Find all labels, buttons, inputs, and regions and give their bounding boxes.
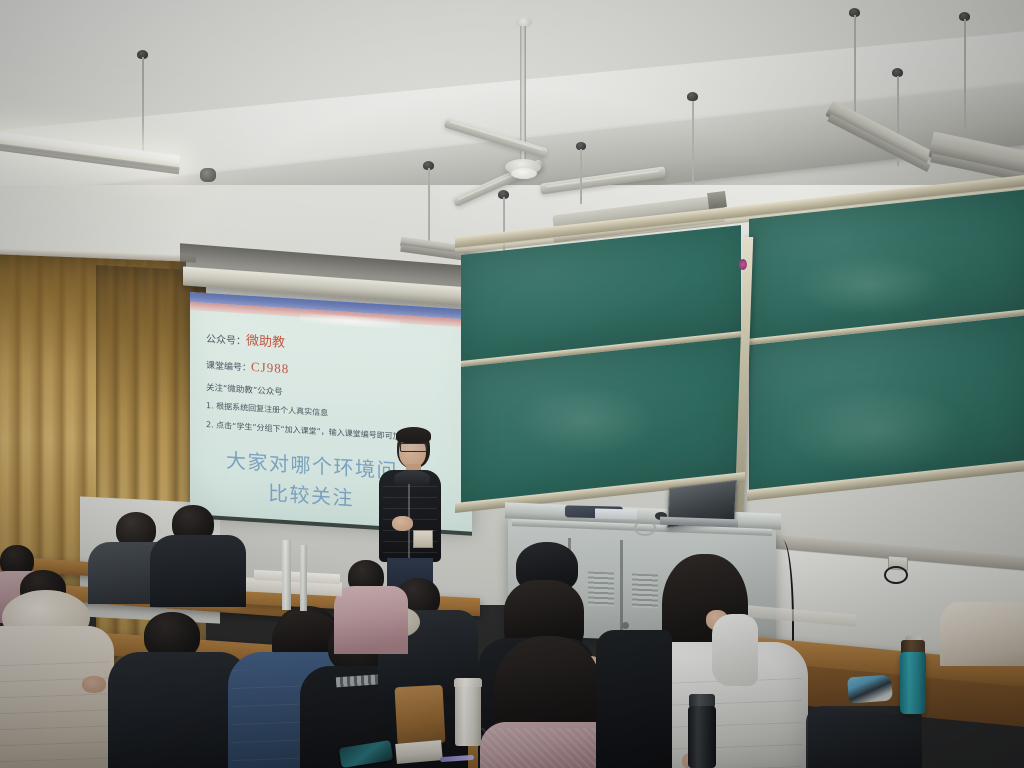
blackboard[interactable]: [455, 215, 1024, 545]
classroom-scene: 6 公众号：微助教 课堂编号：CJ988 关注“微助教”公众号 1. 根据系统回…: [0, 0, 1024, 768]
student-coat: [150, 535, 246, 607]
chalk-smudge-c: [515, 385, 655, 455]
light-left-rod: [142, 57, 144, 157]
chair-back: [395, 685, 446, 745]
white-thermos-cup[interactable]: [455, 684, 481, 746]
student-coat: [940, 602, 1024, 666]
student-back-left-b: [150, 505, 246, 605]
light-c1-rod: [428, 168, 430, 248]
instructor-badge: [413, 530, 433, 548]
book-stack[interactable]: [395, 740, 443, 764]
glasses-icon: [400, 443, 427, 452]
lectern-clip: [634, 520, 656, 536]
slide-label-account: 公众号：: [206, 334, 246, 348]
light-c4-cap: [687, 92, 698, 101]
wall-pipe-b: [300, 545, 307, 611]
student-coat: [334, 586, 408, 654]
papers-on-lectern: [595, 508, 637, 519]
slide-follow-instruction: 关注“微助教”公众号: [206, 381, 283, 398]
coat-quilt-lines: [0, 650, 110, 768]
light-r1-rod: [854, 15, 856, 123]
slide-value-classcode: CJ988: [251, 359, 289, 376]
instructor-collar: [394, 470, 430, 486]
student-coat: [596, 630, 672, 768]
slide-label-classcode: 课堂编号：: [206, 361, 251, 374]
fan-light-kit: [511, 168, 537, 179]
student-coat: [108, 652, 248, 768]
student-right-dark: [596, 600, 666, 768]
student-coat-pink: [334, 560, 404, 650]
teal-thermos[interactable]: [900, 652, 926, 714]
student-coat-dark-left: [108, 612, 238, 768]
light-r3-rod: [964, 19, 966, 143]
slide-value-account: 微助教: [246, 334, 285, 351]
blue-cloth[interactable]: [847, 674, 893, 703]
black-thermos[interactable]: [688, 706, 716, 768]
student-coat-cream: [0, 570, 116, 768]
slide-headline-line1: 大家对哪个环境问: [226, 444, 398, 484]
cable-loop: [884, 566, 908, 584]
instructor-hands: [392, 516, 413, 531]
ceiling-fitting-left: [200, 168, 216, 182]
student-hand: [82, 676, 106, 693]
student-left-of-white: [806, 706, 916, 768]
light-c3-rod: [580, 149, 582, 204]
board-decoration: [739, 259, 747, 270]
coat-sleeve: [712, 614, 758, 686]
wall-pipe-a: [282, 540, 291, 610]
white-thermos-cup-lid: [454, 678, 482, 687]
chalk-smudge-a: [795, 255, 945, 315]
student-coat: [806, 706, 922, 768]
student-far-right: [940, 592, 1024, 662]
instructor-hair: [396, 427, 431, 443]
slide-headline-line2: 比较关注: [268, 477, 354, 511]
light-center-right-endcap: [707, 191, 727, 209]
chalk-smudge-b: [785, 385, 965, 475]
light-c4-rod: [692, 98, 694, 184]
slide-step-1: 1. 根据系统回复注册个人真实信息: [206, 400, 328, 419]
